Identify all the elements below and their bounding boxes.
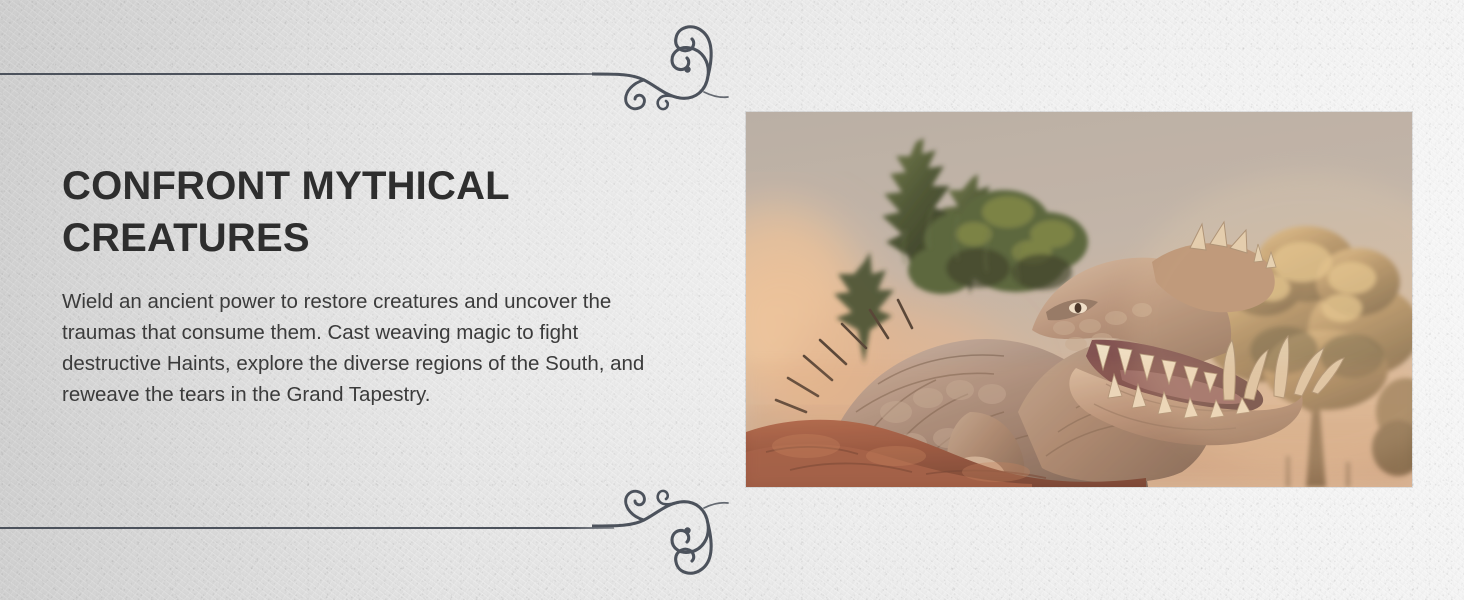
top-horizontal-rule (0, 73, 614, 75)
body-copy: Wield an ancient power to restore creatu… (62, 286, 654, 411)
top-flourish-ornament (592, 18, 732, 126)
bottom-horizontal-rule (0, 527, 614, 529)
headline: CONFRONT MYTHICAL CREATURES (62, 160, 582, 264)
promo-banner: CONFRONT MYTHICAL CREATURES Wield an anc… (0, 0, 1464, 600)
hero-image (746, 112, 1412, 487)
bottom-flourish-ornament (592, 474, 732, 582)
text-column: CONFRONT MYTHICAL CREATURES Wield an anc… (62, 160, 662, 411)
